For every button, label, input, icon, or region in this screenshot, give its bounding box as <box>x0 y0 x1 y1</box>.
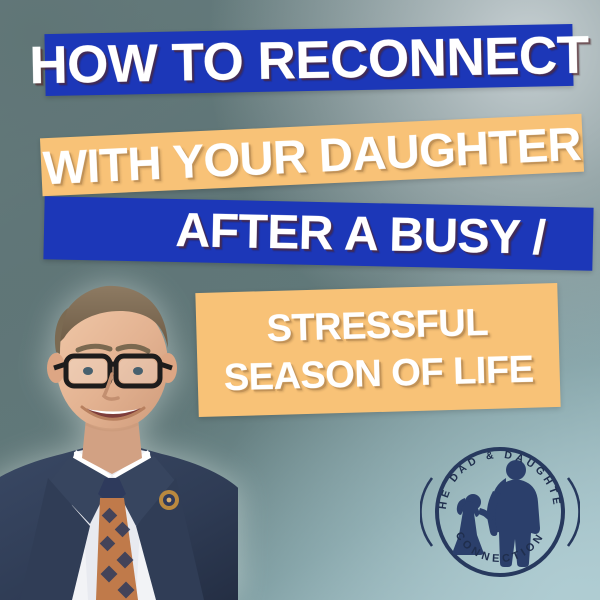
poster-canvas: HOW TO RECONNECT WITH YOUR DAUGHTER AFTE… <box>0 0 600 600</box>
logo-right-arc <box>568 478 580 546</box>
title-band-3-text: AFTER A BUSY / <box>91 205 546 262</box>
title-band-4: STRESSFUL SEASON OF LIFE <box>195 283 560 417</box>
title-band-2-text: WITH YOUR DAUGHTER <box>42 119 582 190</box>
title-band-1: HOW TO RECONNECT <box>44 24 573 96</box>
logo-left-arc <box>420 478 432 546</box>
title-band-2: WITH YOUR DAUGHTER <box>40 114 584 197</box>
title-band-4-line-1: STRESSFUL <box>266 300 489 352</box>
title-band-1-text: HOW TO RECONNECT <box>29 28 589 92</box>
brand-logo: THE DAD & DAUGHTER CONNECTION <box>420 432 580 592</box>
title-band-3: AFTER A BUSY / <box>43 196 593 270</box>
title-band-4-line-2: SEASON OF LIFE <box>223 347 534 402</box>
